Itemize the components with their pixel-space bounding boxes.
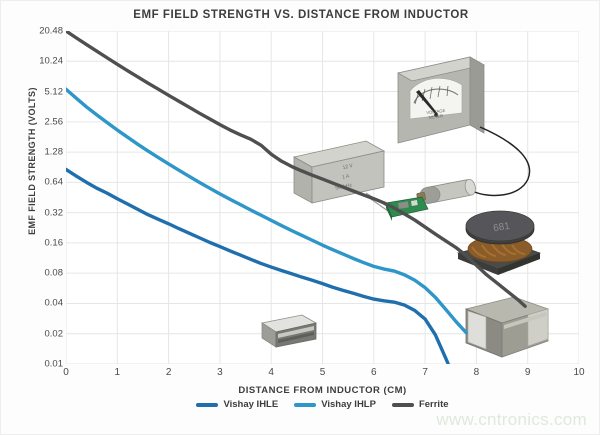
x-tick-label: 0 (63, 367, 69, 378)
legend-label: Vishay IHLP (321, 399, 376, 410)
y-tick-label: 0.04 (3, 298, 63, 309)
y-axis-tick-labels: 0.010.020.040.080.160.320.641.282.565.12… (1, 31, 63, 364)
watermark: www.cntronics.com (436, 410, 587, 430)
y-tick-label: 0.01 (3, 359, 63, 370)
legend-label: Ferrite (419, 399, 449, 410)
x-tick-label: 9 (525, 367, 531, 378)
legend-item[interactable]: Ferrite (392, 399, 449, 410)
x-axis-tick-labels: 012345678910 (66, 367, 579, 383)
x-tick-label: 1 (115, 367, 121, 378)
y-tick-label: 0.16 (3, 237, 63, 248)
y-tick-label: 0.02 (3, 328, 63, 339)
x-tick-label: 6 (371, 367, 377, 378)
legend-item[interactable]: Vishay IHLE (196, 399, 278, 410)
x-axis-title: DISTANCE FROM INDUCTOR (CM) (66, 385, 579, 396)
y-tick-label: 0.08 (3, 268, 63, 279)
chart-container: EMF FIELD STRENGTH VS. DISTANCE FROM IND… (0, 0, 600, 435)
chart-legend: Vishay IHLEVishay IHLPFerrite (66, 399, 579, 410)
data-series (66, 31, 579, 364)
x-tick-label: 5 (320, 367, 326, 378)
y-tick-label: 5.12 (3, 86, 63, 97)
chart-title: EMF FIELD STRENGTH VS. DISTANCE FROM IND… (1, 9, 600, 21)
legend-label: Vishay IHLE (223, 399, 278, 410)
legend-swatch (392, 403, 414, 407)
y-tick-label: 20.48 (3, 26, 63, 37)
y-tick-label: 0.64 (3, 177, 63, 188)
x-tick-label: 2 (166, 367, 172, 378)
x-tick-label: 8 (474, 367, 480, 378)
y-tick-label: 1.28 (3, 147, 63, 158)
plot-area: VOLTAGE METER 12 V 1 A 500kHz (66, 31, 579, 364)
x-tick-label: 4 (268, 367, 274, 378)
legend-item[interactable]: Vishay IHLP (294, 399, 376, 410)
y-tick-label: 0.32 (3, 207, 63, 218)
y-tick-label: 10.24 (3, 56, 63, 67)
series-line (66, 169, 448, 364)
series-line (66, 89, 466, 332)
x-tick-label: 7 (422, 367, 428, 378)
series-line (66, 31, 525, 306)
legend-swatch (294, 403, 316, 407)
x-tick-label: 10 (573, 367, 584, 378)
x-tick-label: 3 (217, 367, 223, 378)
y-tick-label: 2.56 (3, 116, 63, 127)
legend-swatch (196, 403, 218, 407)
